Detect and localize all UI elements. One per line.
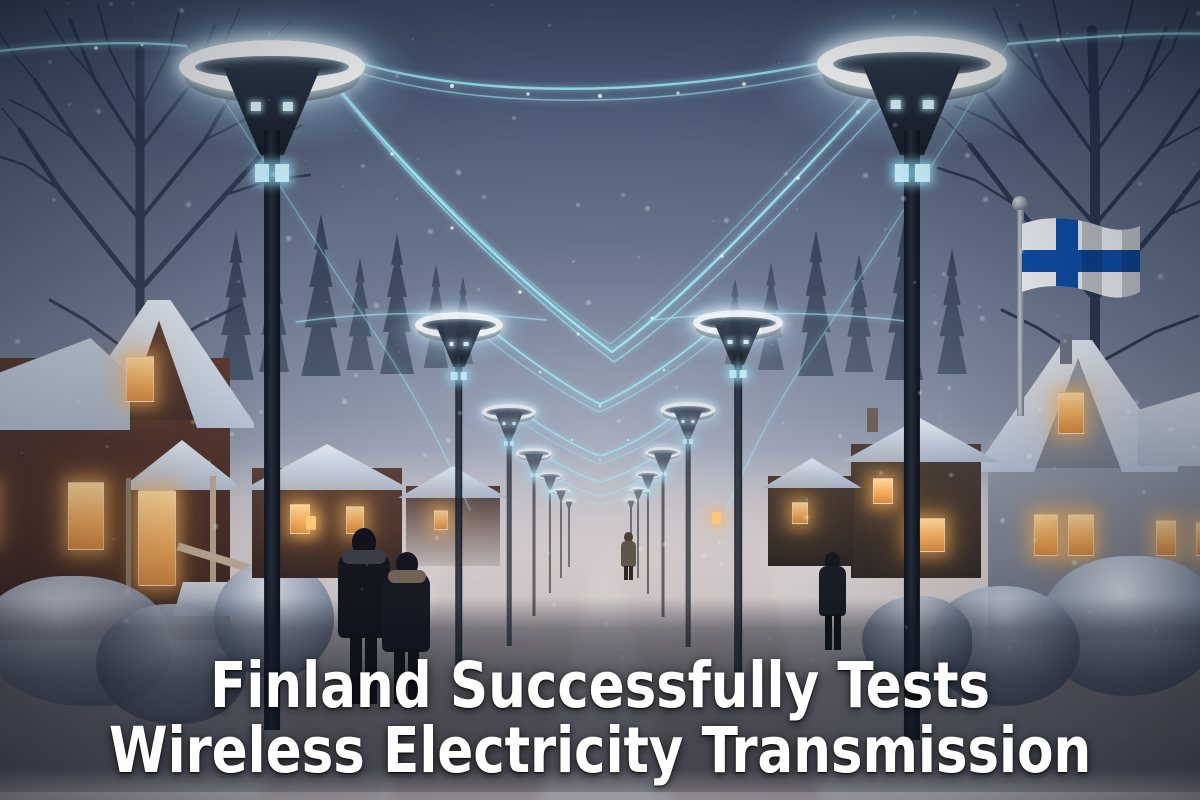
snowflake xyxy=(259,410,263,414)
snowflake xyxy=(576,203,580,207)
snowflake xyxy=(586,352,587,353)
snowflake xyxy=(1072,560,1077,565)
snowflake xyxy=(477,288,480,291)
snowflake xyxy=(67,2,69,4)
snowflake xyxy=(1158,274,1163,279)
snowflake xyxy=(782,422,784,424)
snowflake xyxy=(771,344,773,346)
snowflake xyxy=(52,198,56,202)
snowflake xyxy=(1142,490,1146,494)
snowflake xyxy=(675,451,678,454)
snowflake xyxy=(1090,590,1092,592)
snowflake xyxy=(271,172,276,177)
snowflake xyxy=(712,220,714,222)
snowflake xyxy=(1038,408,1042,412)
snowflake xyxy=(863,173,868,178)
snowflake xyxy=(796,208,798,210)
snowflake xyxy=(805,498,808,501)
snowflake xyxy=(778,62,780,64)
snowflake xyxy=(476,576,479,579)
snowflake xyxy=(213,524,218,529)
snowflake xyxy=(191,420,195,424)
snowflake xyxy=(884,228,887,231)
snowflake xyxy=(512,116,516,120)
snowflake xyxy=(1016,4,1019,7)
snowflake xyxy=(423,453,427,457)
snowflake xyxy=(547,551,550,554)
snowflake xyxy=(1128,89,1130,91)
scene-root: Finland Successfully Tests Wireless Elec… xyxy=(0,0,1200,800)
snowflake xyxy=(1161,586,1162,587)
snowflake xyxy=(113,538,115,540)
snowflake xyxy=(131,2,134,5)
snowflake xyxy=(508,266,511,269)
snowflake xyxy=(586,21,587,22)
snowflake xyxy=(1053,467,1056,470)
snowflake xyxy=(361,588,363,590)
snowflake xyxy=(1063,339,1067,343)
snowflake xyxy=(191,80,194,83)
snowflake xyxy=(639,547,643,551)
snowflake xyxy=(15,339,20,344)
snowflake xyxy=(361,164,365,168)
snowflake xyxy=(435,536,439,540)
snowflake xyxy=(838,434,842,438)
snowflake xyxy=(458,411,462,415)
snowflake xyxy=(804,515,809,520)
snowflake xyxy=(662,542,667,547)
snowflake xyxy=(179,8,184,13)
snowflake xyxy=(48,60,52,64)
snowflake xyxy=(493,414,496,417)
snowflake xyxy=(784,172,788,176)
headline-line-1: Finland Successfully Tests xyxy=(74,654,1127,719)
snowflake xyxy=(186,202,191,207)
snowflake xyxy=(237,280,240,283)
snowflake xyxy=(456,170,461,175)
snowflake xyxy=(697,298,699,300)
snowflake xyxy=(572,260,575,263)
snowflake xyxy=(1193,163,1195,165)
snowflake xyxy=(617,419,621,423)
snowflake xyxy=(286,236,291,241)
snowflake xyxy=(21,452,23,454)
snowflake xyxy=(354,373,358,377)
snowflake xyxy=(983,197,988,202)
snowflake xyxy=(412,38,414,40)
snowflake xyxy=(719,562,722,565)
snowflake xyxy=(1196,11,1200,16)
snowflake xyxy=(268,32,271,35)
page-title: Finland Successfully Tests Wireless Elec… xyxy=(36,654,1164,784)
snowflake xyxy=(1066,32,1068,34)
snowflake xyxy=(637,256,640,259)
snowflake xyxy=(939,415,941,417)
snowflake xyxy=(942,272,946,276)
snowflake xyxy=(135,17,137,19)
snowflake xyxy=(879,471,883,475)
snowflake xyxy=(913,281,916,284)
snowflake xyxy=(947,386,951,390)
snowflake xyxy=(1034,53,1038,57)
snowflake xyxy=(205,317,209,321)
snowflake xyxy=(77,400,80,403)
snowflake xyxy=(724,218,729,223)
snowflake xyxy=(305,160,307,162)
snowflake xyxy=(482,195,486,199)
snowflake xyxy=(342,399,347,404)
snowflake xyxy=(632,486,637,491)
snowflake xyxy=(428,229,433,234)
snowflake xyxy=(68,103,71,106)
snowflake xyxy=(1192,445,1196,449)
snowflake xyxy=(621,193,625,197)
snowflake xyxy=(208,460,211,463)
snowflake xyxy=(1027,454,1032,459)
snowflake xyxy=(268,99,270,101)
snowflake xyxy=(366,564,368,566)
snowflake xyxy=(1033,538,1037,542)
snowflake xyxy=(965,153,970,158)
snowflake xyxy=(901,196,906,201)
snowflake xyxy=(918,391,922,395)
snowflake xyxy=(965,101,968,104)
snowflake xyxy=(326,301,328,303)
snowflake xyxy=(396,198,398,200)
snowflake xyxy=(718,541,721,544)
snowflake xyxy=(1041,512,1043,514)
snowflake xyxy=(945,142,947,144)
headline-line-2: Wireless Electricity Transmission xyxy=(74,719,1127,784)
snowflake xyxy=(417,158,419,160)
snowflake xyxy=(1134,400,1139,405)
snowflake xyxy=(642,415,644,417)
snowflake xyxy=(548,24,551,27)
snowflake xyxy=(933,294,935,296)
snowflake xyxy=(1128,230,1129,231)
snowflake xyxy=(1170,419,1172,421)
snowflake xyxy=(980,316,985,321)
snowflake xyxy=(96,109,101,114)
snowflake xyxy=(355,129,357,131)
snowflake xyxy=(97,39,99,41)
snowflake xyxy=(694,316,696,318)
snowflake xyxy=(914,11,917,14)
snowflake xyxy=(1047,543,1049,545)
snowflake xyxy=(893,123,897,127)
snowflake xyxy=(978,305,981,308)
snowflake xyxy=(230,432,234,436)
snowflake xyxy=(1019,248,1024,253)
snowflake xyxy=(491,4,493,6)
snowflake xyxy=(1000,518,1005,523)
snowflake xyxy=(675,386,678,389)
snowflake xyxy=(586,300,591,305)
snowflake xyxy=(1168,427,1173,432)
snowflake xyxy=(949,473,953,477)
snowflake xyxy=(109,2,113,6)
snowflake xyxy=(398,351,400,353)
snowflake xyxy=(702,553,706,557)
snowflake xyxy=(342,185,344,187)
snowflake xyxy=(1138,182,1142,186)
snowflake xyxy=(892,15,895,18)
snowflake xyxy=(374,303,379,308)
snowflake xyxy=(645,206,650,211)
snowflake xyxy=(395,74,399,78)
snowflake xyxy=(837,375,839,377)
snowflake xyxy=(1057,315,1059,317)
snowflake xyxy=(1126,409,1131,414)
snowflake xyxy=(933,321,937,325)
snowflake xyxy=(420,442,422,444)
snowflake xyxy=(698,461,700,463)
snowflake xyxy=(446,438,451,443)
snowflake xyxy=(106,445,109,448)
